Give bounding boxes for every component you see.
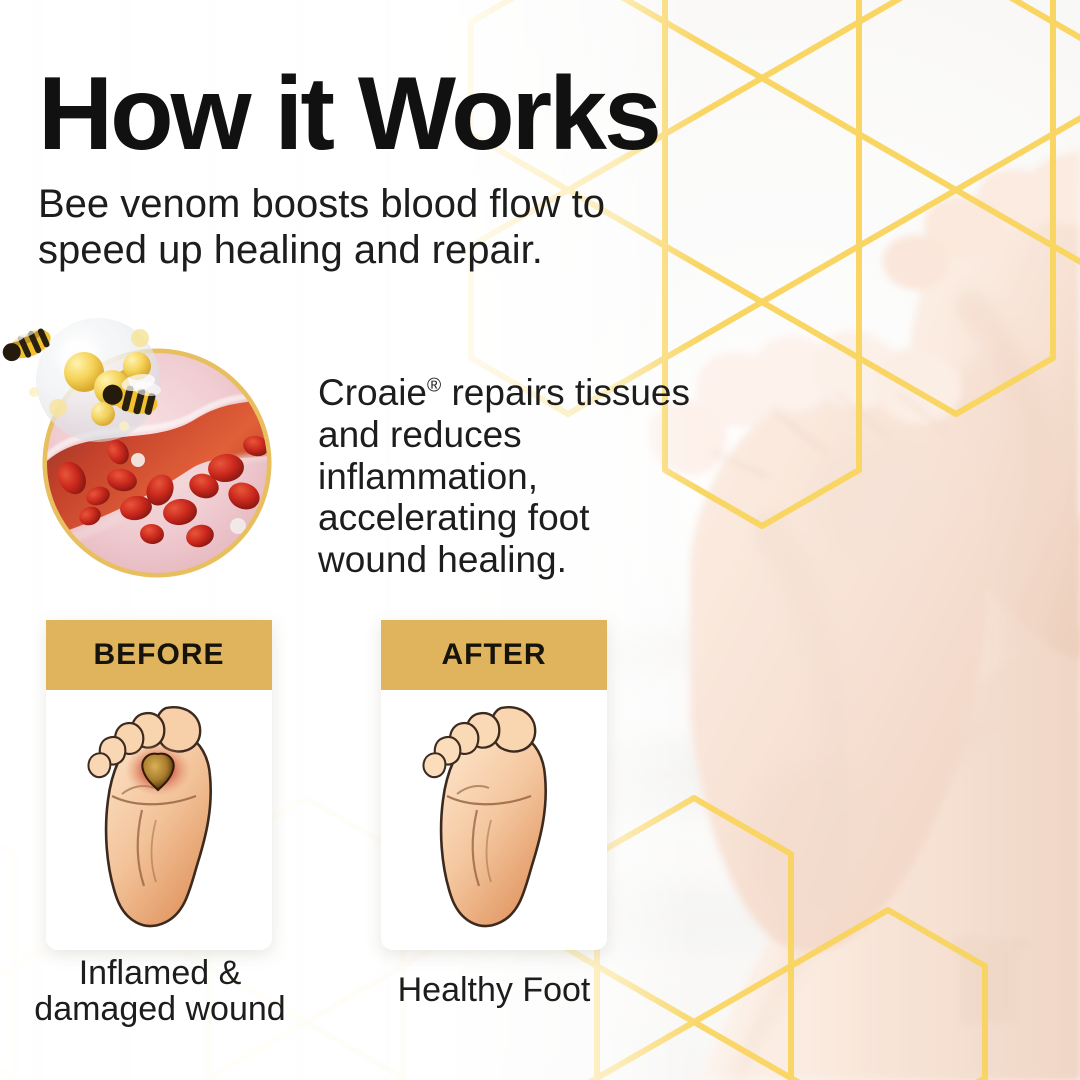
before-caption: Inflamed & damaged wound: [20, 955, 300, 1027]
after-card-header: AFTER: [381, 620, 607, 690]
brand-name: Croaie: [318, 372, 427, 413]
subtitle: Bee venom boosts blood flow to speed up …: [38, 182, 698, 273]
before-card: BEFORE: [46, 620, 272, 950]
page-title: How it Works: [38, 62, 659, 166]
after-card: AFTER: [381, 620, 607, 950]
after-caption: Healthy Foot: [358, 972, 630, 1008]
before-card-header: BEFORE: [46, 620, 272, 690]
before-foot-illustration: [46, 690, 272, 950]
body-paragraph: Croaie® repairs tissues and reduces infl…: [318, 372, 708, 581]
after-foot-illustration: [381, 690, 607, 950]
promo-graphic: How it Works Bee venom boosts blood flow…: [0, 0, 1080, 1080]
registered-trademark-icon: ®: [427, 376, 441, 397]
